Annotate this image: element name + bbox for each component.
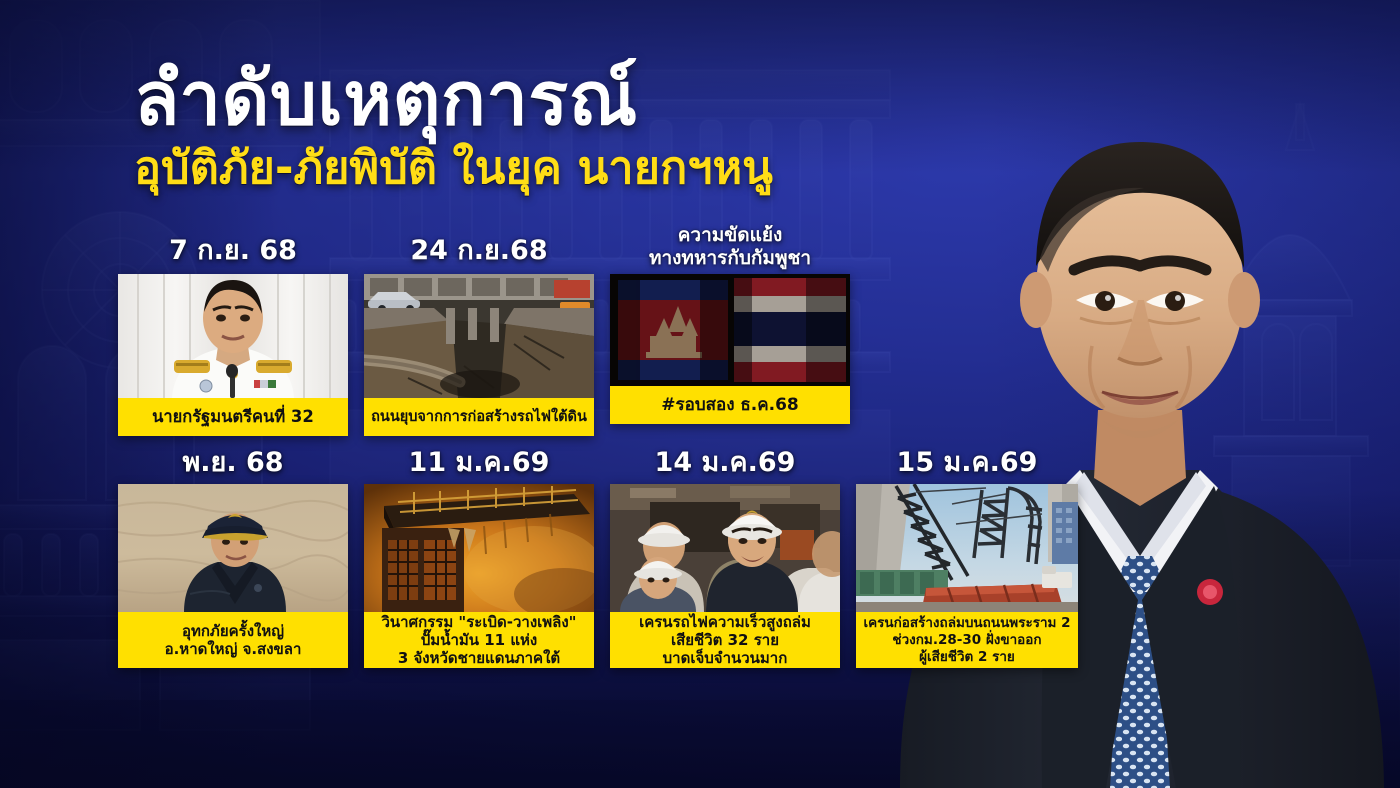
- timeline-caption-1: นายกรัฐมนตรีคนที่ 32: [118, 398, 348, 436]
- infographic-stage: ลำดับเหตุการณ์ อุบัติภัย-ภัยพิบัติ ในยุค…: [0, 0, 1400, 788]
- photo-prime-minister: [118, 274, 348, 398]
- timeline-card-4[interactable]: อุทกภัยครั้งใหญ่ อ.หาดใหญ่ จ.สงขลา: [118, 484, 348, 668]
- timeline-date-3: ความขัดแย้ง ทางทหารกับกัมพูชา: [610, 224, 850, 270]
- timeline-caption-2: ถนนยุบจากการก่อสร้างรถไฟใต้ดิน: [364, 398, 594, 436]
- timeline-card-5[interactable]: วินาศกรรม "ระเบิด-วางเพลิง" ปั๊มน้ำมัน 1…: [364, 484, 594, 668]
- page-title: ลำดับเหตุการณ์: [134, 60, 894, 138]
- timeline-caption-6: เครนรถไฟความเร็วสูงถล่ม เสียชีวิต 32 ราย…: [610, 612, 840, 668]
- timeline-date-7: 15 ม.ค.69: [856, 448, 1078, 478]
- photo-flood-inspection: [118, 484, 348, 612]
- timeline-date-5: 11 ม.ค.69: [364, 448, 594, 478]
- timeline-card-1[interactable]: นายกรัฐมนตรีคนที่ 32: [118, 274, 348, 436]
- timeline-date-4: พ.ย. 68: [118, 448, 348, 478]
- timeline-caption-4: อุทกภัยครั้งใหญ่ อ.หาดใหญ่ จ.สงขลา: [118, 612, 348, 668]
- timeline-card-7[interactable]: เครนก่อสร้างถล่มบนถนนพระราม 2 ช่วงกม.28-…: [856, 484, 1078, 668]
- timeline-card-3[interactable]: #รอบสอง ธ.ค.68: [610, 274, 850, 424]
- photo-collapsed-crane: [856, 484, 1078, 612]
- timeline-date-1: 7 ก.ย. 68: [118, 236, 348, 266]
- headline-block: ลำดับเหตุการณ์ อุบัติภัย-ภัยพิบัติ ในยุค…: [134, 60, 894, 194]
- photo-officials-hardhats: [610, 484, 840, 612]
- photo-burning-gas-station: [364, 484, 594, 612]
- photo-road-sinkhole: [364, 274, 594, 398]
- timeline-card-2[interactable]: ถนนยุบจากการก่อสร้างรถไฟใต้ดิน: [364, 274, 594, 436]
- page-subtitle: อุบัติภัย-ภัยพิบัติ ในยุค นายกฯหนู: [134, 142, 894, 194]
- timeline-caption-3: #รอบสอง ธ.ค.68: [610, 386, 850, 424]
- timeline-date-2: 24 ก.ย.68: [364, 236, 594, 266]
- timeline-caption-7: เครนก่อสร้างถล่มบนถนนพระราม 2 ช่วงกม.28-…: [856, 612, 1078, 668]
- timeline-caption-5: วินาศกรรม "ระเบิด-วางเพลิง" ปั๊มน้ำมัน 1…: [364, 612, 594, 668]
- timeline-card-6[interactable]: เครนรถไฟความเร็วสูงถล่ม เสียชีวิต 32 ราย…: [610, 484, 840, 668]
- photo-cambodia-thailand-flags: [610, 274, 850, 386]
- timeline-date-6: 14 ม.ค.69: [610, 448, 840, 478]
